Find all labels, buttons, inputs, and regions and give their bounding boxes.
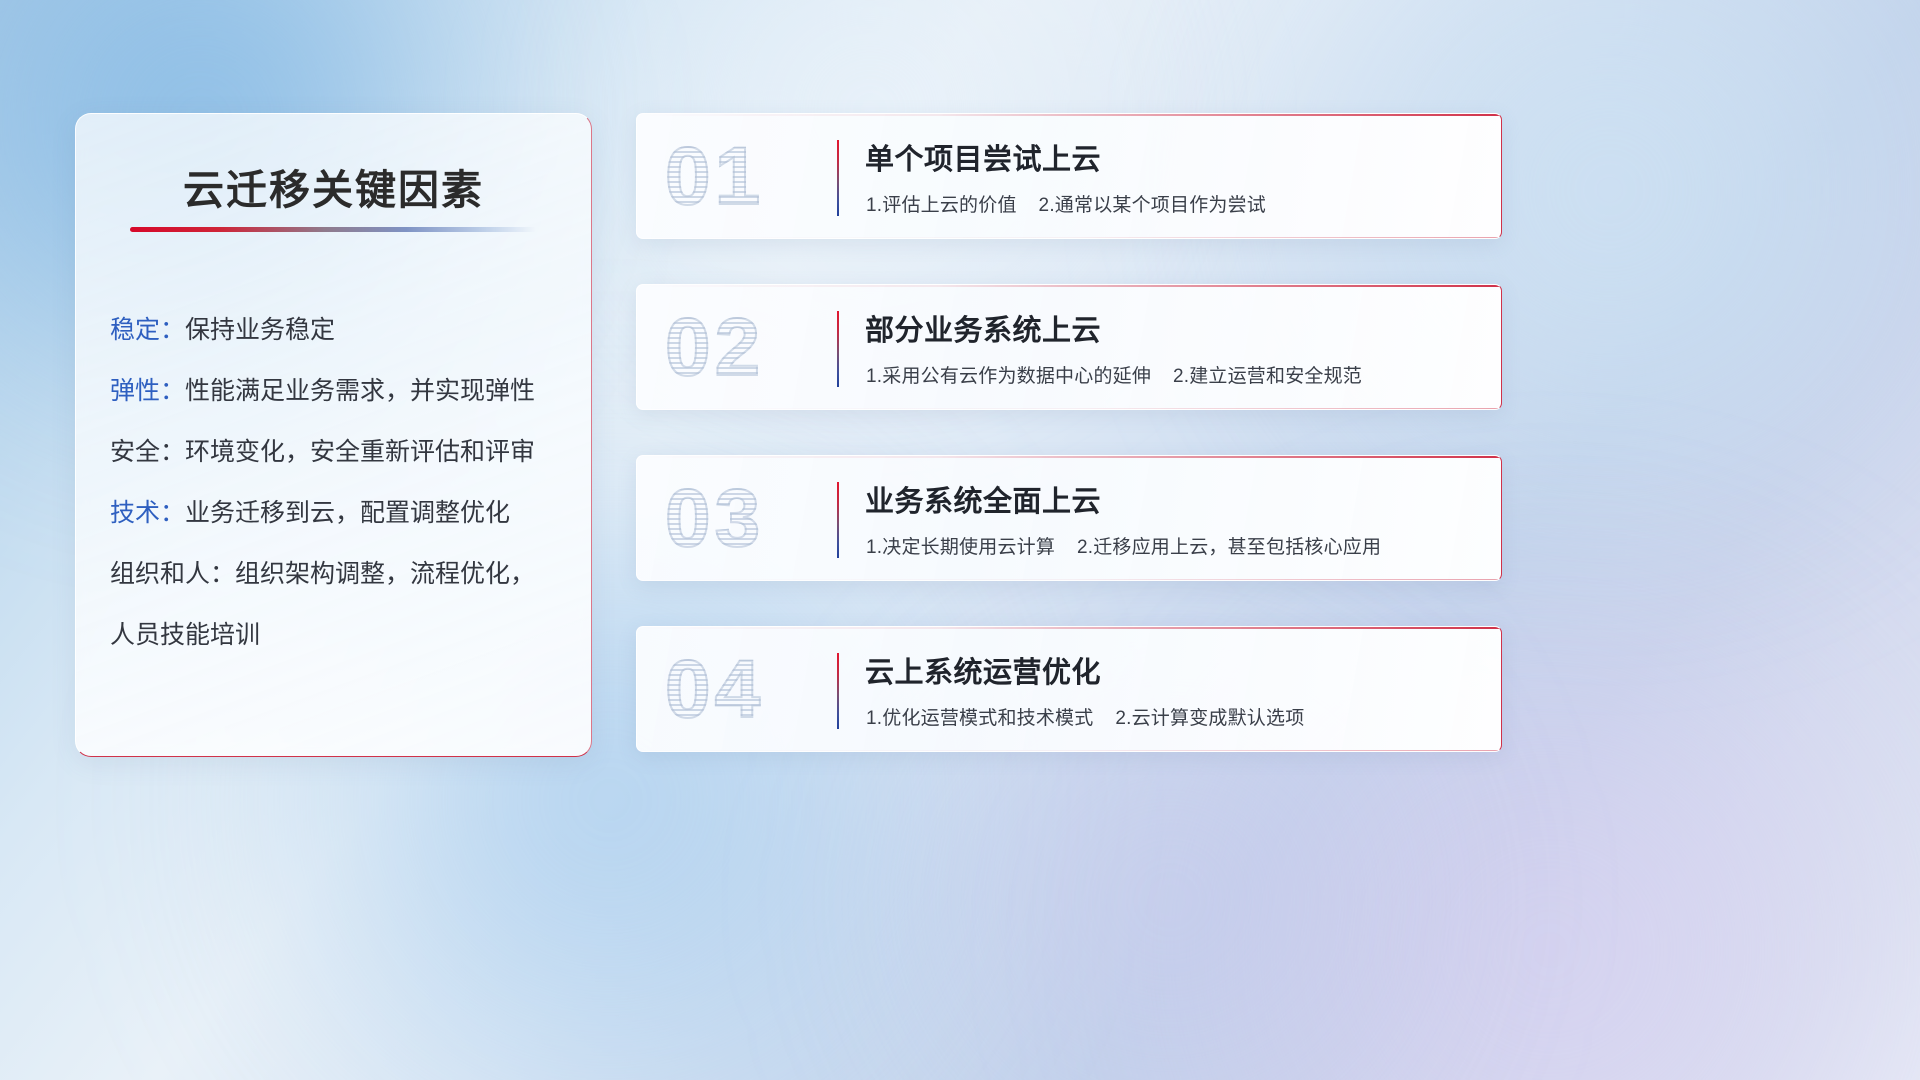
factor-label: 弹性：: [110, 377, 185, 405]
stage-divider-accent: [837, 653, 839, 729]
list-item: 组织和人：组织架构调整，流程优化，: [110, 544, 571, 605]
stage-description: 1.决定长期使用云计算 2.迁移应用上云，甚至包括核心应用: [866, 532, 1381, 559]
stage-description: 1.采用公有云作为数据中心的延伸 2.建立运营和安全规范: [866, 361, 1362, 388]
stage-title: 部分业务系统上云: [865, 307, 1101, 349]
stage-card-01[interactable]: 01 单个项目尝试上云 1.评估上云的价值 2.通常以某个项目作为尝试: [636, 113, 1502, 239]
slide-canvas: 云迁移关键因素 稳定：保持业务稳定 弹性：性能满足业务需求，并实现弹性 安全：环…: [0, 0, 1920, 1080]
factor-label: 技术：: [110, 499, 185, 527]
list-item: 技术：业务迁移到云，配置调整优化: [110, 483, 571, 544]
factor-list: 稳定：保持业务稳定 弹性：性能满足业务需求，并实现弹性 安全：环境变化，安全重新…: [110, 300, 571, 666]
list-item: 安全：环境变化，安全重新评估和评审: [110, 422, 571, 483]
key-factors-panel: 云迁移关键因素 稳定：保持业务稳定 弹性：性能满足业务需求，并实现弹性 安全：环…: [75, 113, 592, 757]
list-item: 人员技能培训: [110, 605, 571, 666]
stage-description: 1.优化运营模式和技术模式 2.云计算变成默认选项: [866, 703, 1304, 730]
factor-text: 业务迁移到云，配置调整优化: [185, 499, 510, 527]
stage-card-list: 01 单个项目尝试上云 1.评估上云的价值 2.通常以某个项目作为尝试 02 部…: [636, 113, 1502, 797]
page-title: 云迁移关键因素: [76, 156, 591, 216]
list-item: 弹性：性能满足业务需求，并实现弹性: [110, 361, 571, 422]
factor-label: 组织和人：: [110, 560, 235, 588]
factor-label: 安全：: [110, 438, 185, 466]
factor-text: 性能满足业务需求，并实现弹性: [185, 377, 535, 405]
stage-number: 04: [665, 639, 835, 741]
stage-divider-accent: [837, 482, 839, 558]
stage-card-03[interactable]: 03 业务系统全面上云 1.决定长期使用云计算 2.迁移应用上云，甚至包括核心应…: [636, 455, 1502, 581]
stage-number: 03: [665, 468, 835, 570]
title-underline-accent: [130, 227, 536, 232]
factor-label: 稳定：: [110, 316, 185, 344]
factor-text: 保持业务稳定: [185, 316, 335, 344]
factor-text: 环境变化，安全重新评估和评审: [185, 438, 535, 466]
stage-card-02[interactable]: 02 部分业务系统上云 1.采用公有云作为数据中心的延伸 2.建立运营和安全规范: [636, 284, 1502, 410]
stage-number: 02: [665, 297, 835, 399]
factor-text: 人员技能培训: [110, 621, 260, 649]
stage-title: 单个项目尝试上云: [865, 136, 1101, 178]
stage-title: 业务系统全面上云: [865, 478, 1101, 520]
stage-description: 1.评估上云的价值 2.通常以某个项目作为尝试: [866, 190, 1266, 217]
list-item: 稳定：保持业务稳定: [110, 300, 571, 361]
stage-number: 01: [665, 126, 835, 228]
stage-divider-accent: [837, 140, 839, 216]
stage-divider-accent: [837, 311, 839, 387]
stage-title: 云上系统运营优化: [865, 649, 1101, 691]
factor-text: 组织架构调整，流程优化，: [235, 560, 535, 588]
stage-card-04[interactable]: 04 云上系统运营优化 1.优化运营模式和技术模式 2.云计算变成默认选项: [636, 626, 1502, 752]
